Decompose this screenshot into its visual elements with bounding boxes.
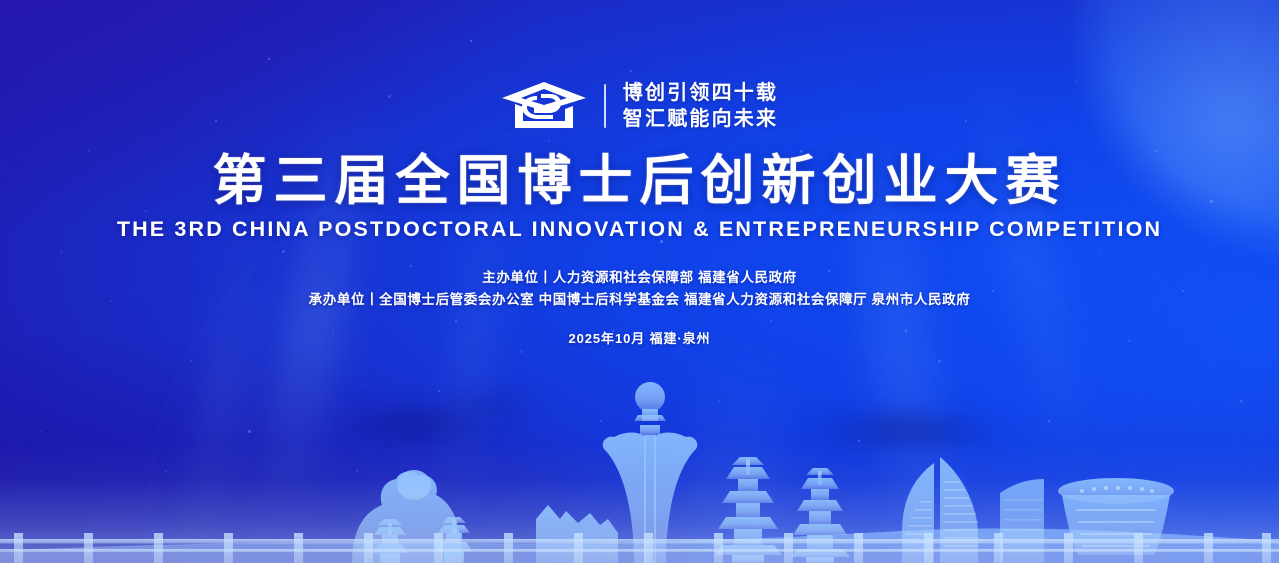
logo-slogan: 博创引领四十载 智汇赋能向未来 <box>623 82 778 130</box>
organizer-line-co-host: 承办单位丨全国博士后管委会办公室 中国博士后科学基金会 福建省人力资源和社会保障… <box>0 289 1279 311</box>
east-pagoda <box>714 457 782 563</box>
banner-content: 博创引领四十载 智汇赋能向未来 第三届全国博士后创新创业大赛 THE 3RD C… <box>0 0 1279 347</box>
main-title-chinese: 第三届全国博士后创新创业大赛 <box>0 153 1279 210</box>
main-title-english: THE 3RD CHINA POSTDOCTORAL INNOVATION & … <box>0 219 1279 241</box>
organizer-block: 主办单位丨人力资源和社会保障部 福建省人民政府 承办单位丨全国博士后管委会办公室… <box>0 267 1279 311</box>
slogan-line-1: 博创引领四十载 <box>623 82 778 104</box>
organizer-line-host: 主办单位丨人力资源和社会保障部 福建省人民政府 <box>0 267 1279 289</box>
logo-divider <box>604 84 606 128</box>
date-location-line: 2025年10月 福建·泉州 <box>0 328 1279 347</box>
event-banner: 博创引领四十载 智汇赋能向未来 第三届全国博士后创新创业大赛 THE 3RD C… <box>0 0 1279 563</box>
logo-lockup: 博创引领四十载 智汇赋能向未来 <box>0 80 1279 132</box>
graduation-cap-emblem-icon <box>501 80 587 132</box>
sail-tower-building <box>902 457 978 563</box>
slogan-line-2: 智汇赋能向未来 <box>623 108 778 130</box>
quanzhou-skyline-silhouette <box>0 373 1279 563</box>
